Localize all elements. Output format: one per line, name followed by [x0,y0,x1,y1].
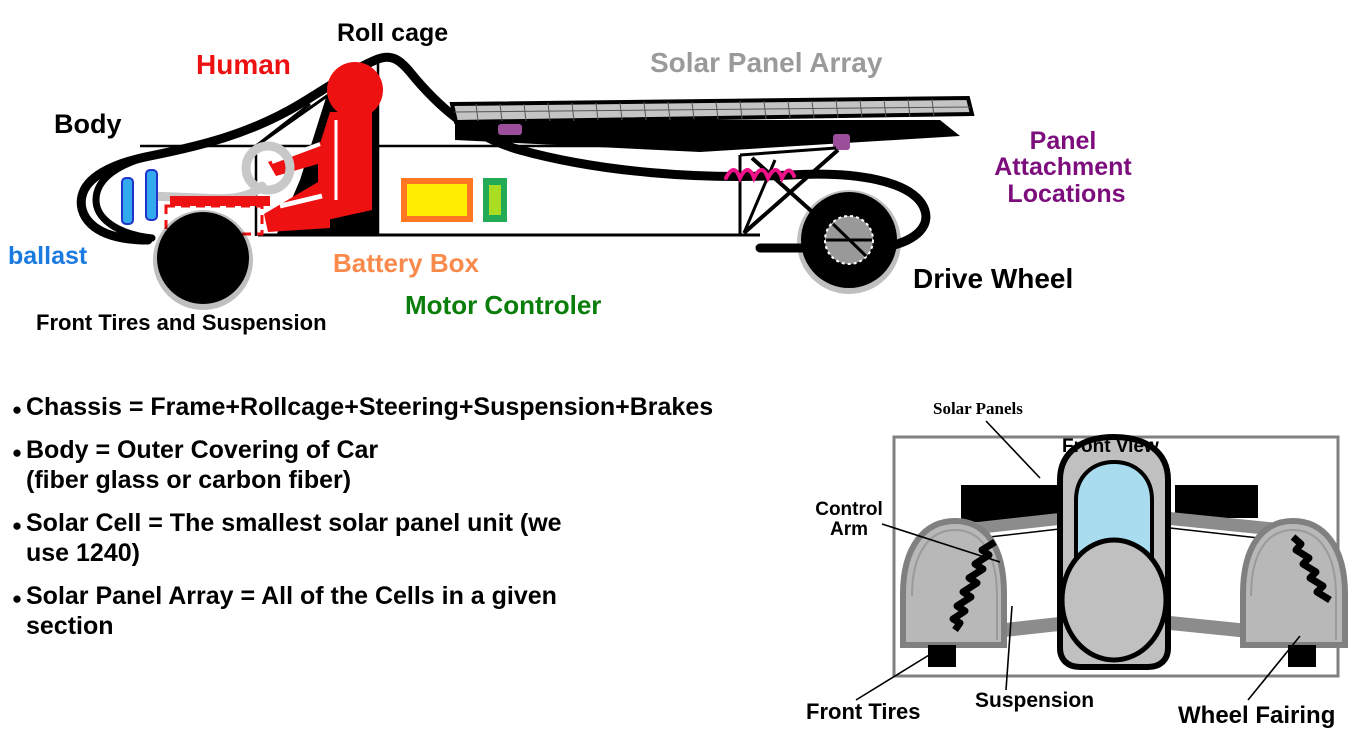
solar-car-diagram-page: Roll cage Human Body Solar Panel Array b… [0,0,1366,746]
label-front-tires: Front Tires [806,700,921,723]
leader-solar-panels [986,421,1040,478]
front-view-center-wheel [1062,540,1166,660]
front-tire-right [1288,645,1316,667]
label-control-arm: Control Arm [803,500,895,540]
label-front-view: Front View [1062,437,1159,457]
front-view-illustration [0,0,1366,746]
label-wheel-fairing: Wheel Fairing [1178,703,1335,728]
label-solar-panels: Solar Panels [933,400,1023,418]
label-suspension: Suspension [975,690,1094,712]
front-tire-left [928,645,956,667]
